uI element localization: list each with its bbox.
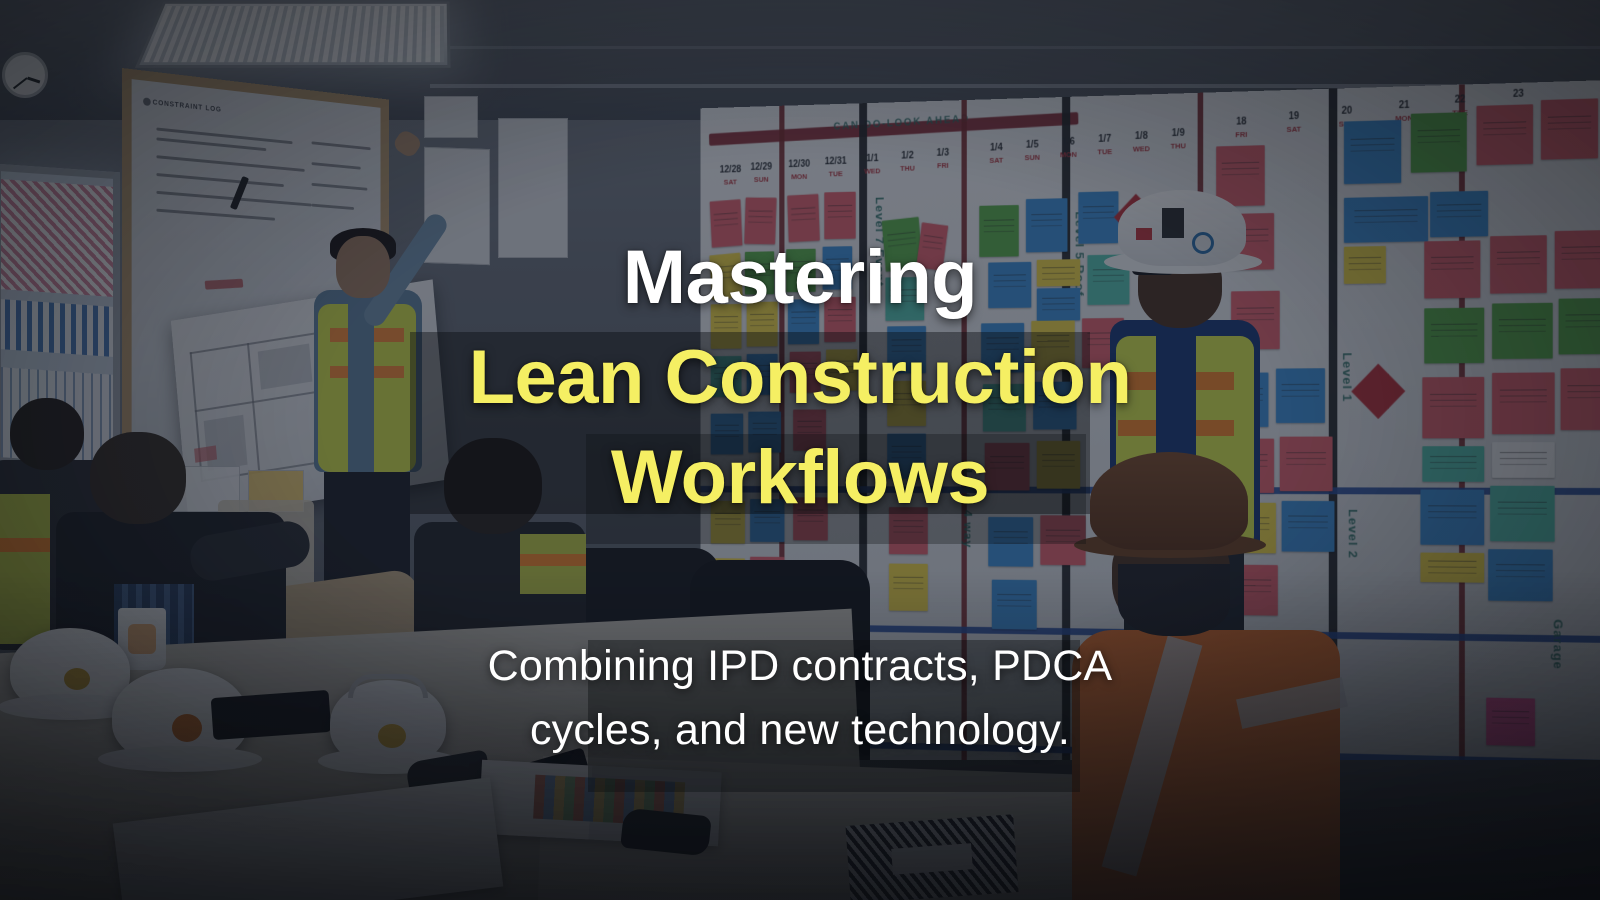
subtitle-line-1: Combining IPD contracts, PDCA [0,634,1600,698]
subtitle-block: Combining IPD contracts, PDCA cycles, an… [0,634,1600,762]
title-line-3: Workflows [0,428,1600,528]
title-block: Mastering Lean Construction Workflows [0,228,1600,528]
title-line-2: Lean Construction [0,328,1600,428]
text-overlay: Mastering Lean Construction Workflows Co… [0,0,1600,900]
thumbnail-canvas: CONSTRAINT LOG [0,0,1600,900]
subtitle-line-2: cycles, and new technology. [0,698,1600,762]
title-line-1: Mastering [0,228,1600,328]
